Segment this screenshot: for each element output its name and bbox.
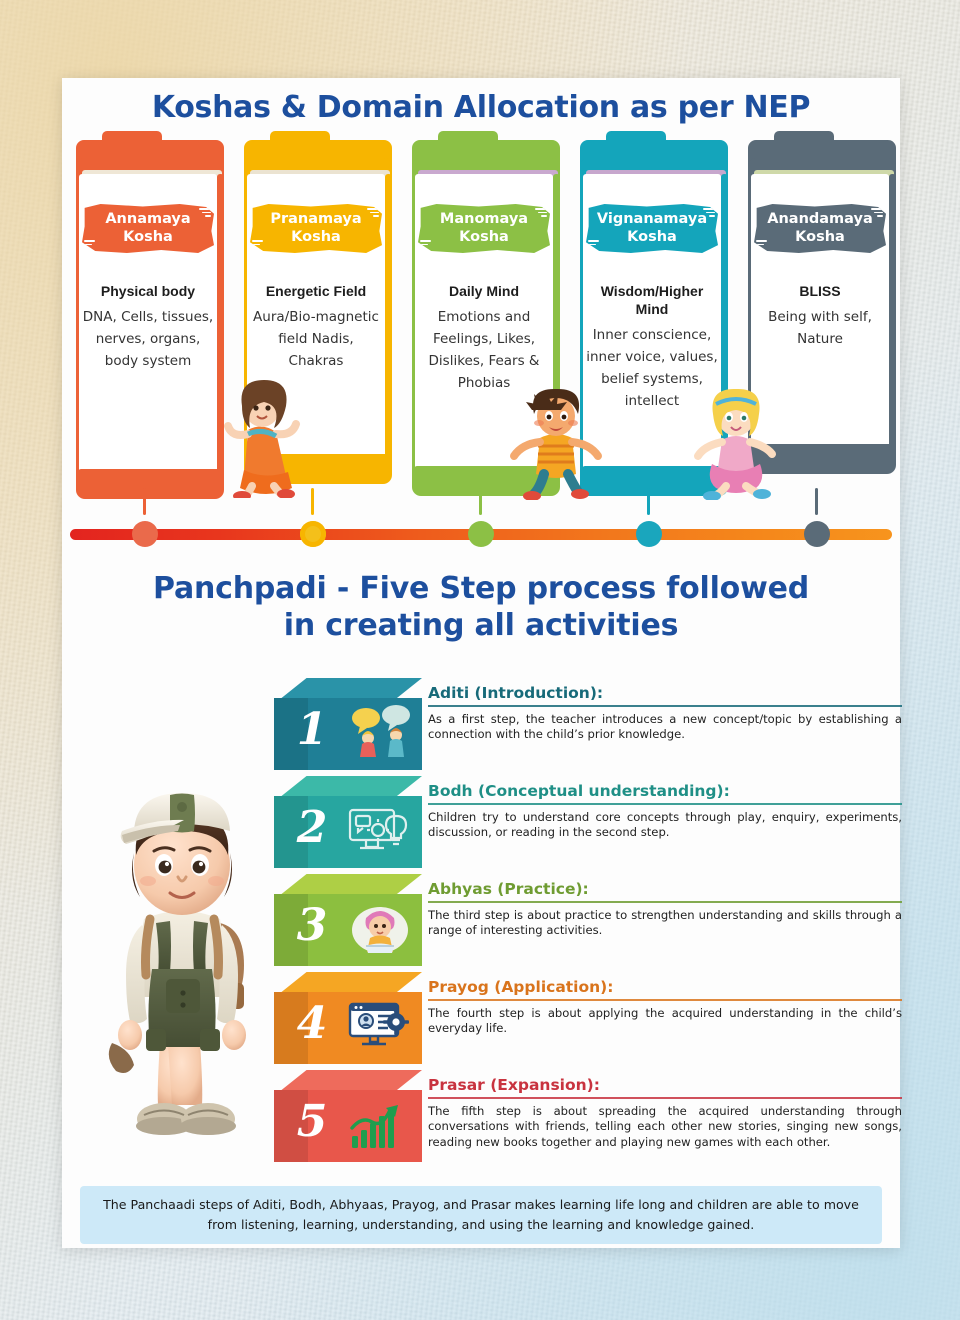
timeline-dot-3 <box>468 521 494 547</box>
kosha-accent-right <box>889 174 896 448</box>
timeline-stem-3 <box>479 488 482 515</box>
timeline-dot-2 <box>300 521 326 547</box>
kosha-accent-right <box>385 174 392 458</box>
timeline-dot-1 <box>132 521 158 547</box>
kosha-timeline <box>70 513 892 553</box>
step-heading-5: Prasar (Expansion): <box>428 1076 902 1097</box>
kosha-card-1: AnnamayaKoshaPhysical bodyDNA, Cells, ti… <box>70 140 224 495</box>
badge-speed-lines-icon <box>703 208 715 217</box>
timeline-stem-1 <box>143 488 146 515</box>
badge-speed-lines-icon <box>871 208 883 217</box>
boy-striped-shirt-figure <box>508 388 604 505</box>
girl-pink-tutu-figure <box>688 388 784 505</box>
badge-speed-lines-icon <box>535 208 547 217</box>
kosha-badge-line: Kosha <box>418 228 550 246</box>
step-text-block-3: Abhyas (Practice):The third step is abou… <box>428 880 902 939</box>
step-number-2: 2 <box>284 800 340 856</box>
kosha-body-text: Emotions and Feelings, Likes, Dislikes, … <box>417 306 551 394</box>
kosha-badge-2: PranamayaKosha <box>250 204 382 253</box>
step-divider <box>428 803 902 805</box>
kosha-heading: BLISS <box>755 282 885 300</box>
koshas-section: AnnamayaKoshaPhysical bodyDNA, Cells, ti… <box>70 140 892 502</box>
kosha-heading: Wisdom/Higher Mind <box>587 282 717 318</box>
badge-speed-lines-icon <box>367 208 379 217</box>
kosha-badge-line: Kosha <box>586 228 718 246</box>
girl-orange-dress-figure <box>218 378 304 503</box>
step-number-1: 1 <box>284 702 340 758</box>
child-reading-icon <box>346 900 414 954</box>
step-heading-2: Bodh (Conceptual understanding): <box>428 782 902 803</box>
kosha-badge-line: Kosha <box>754 228 886 246</box>
kosha-body-text: Being with self, Nature <box>753 306 887 350</box>
growth-chart-icon <box>346 1096 414 1150</box>
badge-speed-lines-icon <box>199 208 211 217</box>
timeline-stem-4 <box>647 488 650 515</box>
page-title: Koshas & Domain Allocation as per NEP <box>62 90 900 125</box>
kosha-badge-line: Kosha <box>250 228 382 246</box>
computer-settings-icon <box>346 998 414 1052</box>
badge-speed-lines-left-icon <box>420 240 431 248</box>
kosha-badge-5: AnandamayaKosha <box>754 204 886 253</box>
kosha-badge-4: VignanamayaKosha <box>586 204 718 253</box>
summary-note-text: The Panchaadi steps of Aditi, Bodh, Abhy… <box>96 1195 866 1235</box>
kosha-badge-3: ManomayaKosha <box>418 204 550 253</box>
step-number-5: 5 <box>284 1094 340 1150</box>
step-description-4: The fourth step is about applying the ac… <box>428 1001 902 1037</box>
summary-note: The Panchaadi steps of Aditi, Bodh, Abhy… <box>80 1186 882 1244</box>
timeline-dot-5 <box>804 521 830 547</box>
kosha-badge-line: Annamaya <box>82 210 214 228</box>
kosha-body-text: DNA, Cells, tissues, nerves, organs, bod… <box>81 306 215 372</box>
badge-speed-lines-left-icon <box>84 240 95 248</box>
kosha-badge-1: AnnamayaKosha <box>82 204 214 253</box>
step-text-block-4: Prayog (Application):The fourth step is … <box>428 978 902 1037</box>
step-divider <box>428 901 902 903</box>
step-text-block-1: Aditi (Introduction):As a first step, th… <box>428 684 902 743</box>
kosha-heading: Daily Mind <box>419 282 549 300</box>
panchpadi-title-line1: Panchpadi - Five Step process followed <box>62 570 900 607</box>
panchpadi-title-line2: in creating all activities <box>62 607 900 644</box>
badge-speed-lines-left-icon <box>588 240 599 248</box>
badge-speed-lines-left-icon <box>756 240 767 248</box>
panchpadi-steps: 1Aditi (Introduction):As a first step, t… <box>62 678 900 1178</box>
step-text-block-2: Bodh (Conceptual understanding):Children… <box>428 782 902 841</box>
timeline-stem-2 <box>311 488 314 515</box>
timeline-dot-4 <box>636 521 662 547</box>
kosha-badge-line: Kosha <box>82 228 214 246</box>
kosha-badge-line: Pranamaya <box>250 210 382 228</box>
kosha-heading: Physical body <box>83 282 213 300</box>
kosha-card-inner: AnnamayaKoshaPhysical bodyDNA, Cells, ti… <box>79 172 217 471</box>
step-divider <box>428 1097 902 1099</box>
panchpadi-title: Panchpadi - Five Step process followed i… <box>62 570 900 644</box>
kosha-badge-line: Manomaya <box>418 210 550 228</box>
step-text-block-5: Prasar (Expansion):The fifth step is abo… <box>428 1076 902 1150</box>
step-divider <box>428 705 902 707</box>
step-heading-3: Abhyas (Practice): <box>428 880 902 901</box>
kosha-heading: Energetic Field <box>251 282 381 300</box>
kosha-badge-line: Anandamaya <box>754 210 886 228</box>
badge-speed-lines-left-icon <box>252 240 263 248</box>
children-talking-icon <box>346 704 414 758</box>
lightbulb-monitor-icon <box>346 802 414 856</box>
step-description-2: Children try to understand core concepts… <box>428 805 902 841</box>
kosha-badge-line: Vignanamaya <box>586 210 718 228</box>
timeline-stem-5 <box>815 488 818 515</box>
step-divider <box>428 999 902 1001</box>
step-number-3: 3 <box>284 898 340 954</box>
step-description-1: As a first step, the teacher introduces … <box>428 707 902 743</box>
poster-page: Koshas & Domain Allocation as per NEP An… <box>62 78 900 1248</box>
step-heading-4: Prayog (Application): <box>428 978 902 999</box>
step-heading-1: Aditi (Introduction): <box>428 684 902 705</box>
step-number-4: 4 <box>284 996 340 1052</box>
step-description-5: The fifth step is about spreading the ac… <box>428 1099 902 1151</box>
kosha-body-text: Aura/Bio-magnetic field Nadis, Chakras <box>249 306 383 372</box>
step-description-3: The third step is about practice to stre… <box>428 903 902 939</box>
